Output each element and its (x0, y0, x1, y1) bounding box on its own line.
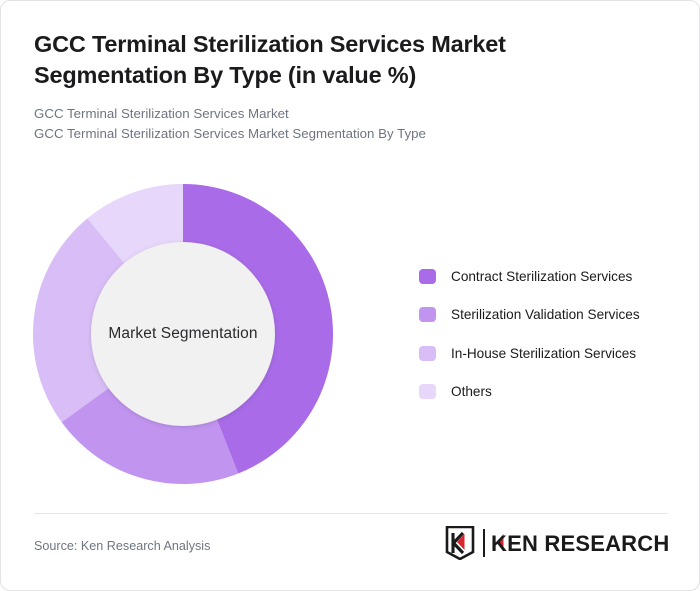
chart-card: GCC Terminal Sterilization Services Mark… (0, 0, 700, 591)
ken-research-wordmark: KEN RESEARCH (491, 530, 669, 556)
legend-label: In-House Sterilization Services (451, 346, 636, 361)
legend-label: Sterilization Validation Services (451, 307, 640, 322)
legend-swatch (419, 307, 436, 322)
legend-item[interactable]: Contract Sterilization Services (419, 257, 681, 296)
legend-item[interactable]: In-House Sterilization Services (419, 334, 681, 373)
chart-header: GCC Terminal Sterilization Services Mark… (34, 29, 654, 144)
footer-divider (34, 513, 668, 514)
breadcrumb-segmentation: GCC Terminal Sterilization Services Mark… (34, 124, 654, 144)
legend-label: Contract Sterilization Services (451, 269, 632, 284)
legend-swatch (419, 346, 436, 361)
logo-divider (483, 529, 485, 557)
breadcrumb-market: GCC Terminal Sterilization Services Mark… (34, 104, 654, 124)
source-note: Source: Ken Research Analysis (34, 539, 210, 553)
donut-hole (91, 242, 275, 426)
subtitle-block: GCC Terminal Sterilization Services Mark… (34, 104, 654, 144)
chart-legend: Contract Sterilization ServicesSteriliza… (419, 257, 681, 411)
legend-item[interactable]: Others (419, 373, 681, 412)
ken-research-logo: KEN RESEARCH (444, 525, 669, 561)
legend-swatch (419, 269, 436, 284)
donut-chart: Market Segmentation (33, 184, 333, 484)
donut-svg (33, 184, 333, 484)
page-title: GCC Terminal Sterilization Services Mark… (34, 29, 654, 91)
legend-label: Others (451, 384, 492, 399)
chart-area: Market Segmentation Contract Sterilizati… (1, 171, 700, 501)
ken-research-wordmark-text: KEN RESEARCH (491, 531, 669, 556)
legend-swatch (419, 384, 436, 399)
legend-item[interactable]: Sterilization Validation Services (419, 296, 681, 335)
ken-research-monogram-icon (444, 526, 476, 560)
